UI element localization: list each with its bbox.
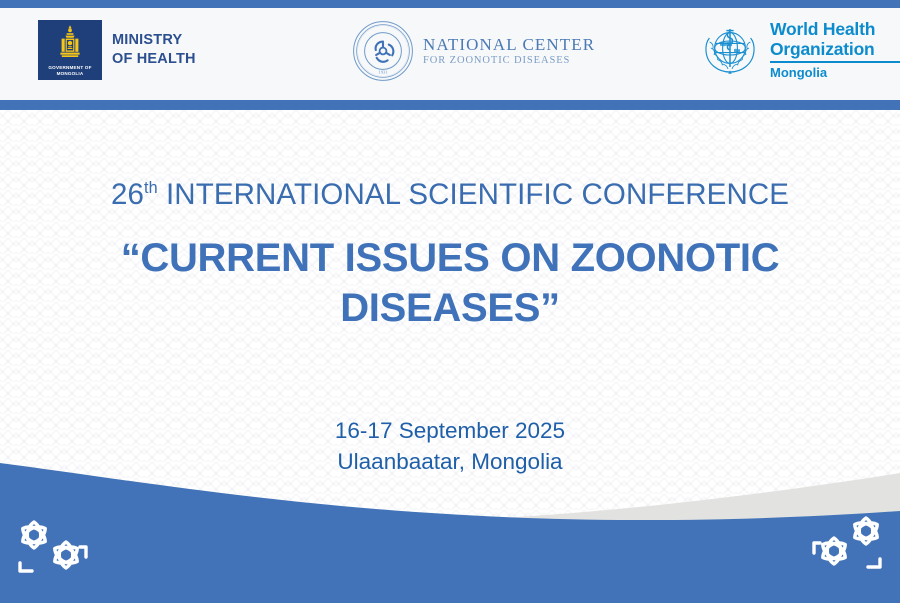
nczd-line-2: FOR ZOONOTIC DISEASES — [423, 54, 595, 68]
moh-line-2: OF HEALTH — [112, 50, 196, 69]
ministry-of-health-label: MINISTRY OF HEALTH — [112, 31, 196, 69]
nczd-line-1: NATIONAL CENTER — [423, 35, 595, 54]
nczd-label: NATIONAL CENTER FOR ZOONOTIC DISEASES — [423, 35, 595, 68]
who-emblem-icon — [700, 21, 760, 79]
zoonotic-seal-icon: 1931 — [352, 20, 414, 82]
soyombo-emblem: GOVERNMENT OF MONGOLIA — [38, 20, 102, 80]
title-line-1: “CURRENT ISSUES ON ZOONOTIC — [60, 233, 840, 283]
who-country-label: Mongolia — [770, 65, 900, 80]
logo-ministry-of-health: GOVERNMENT OF MONGOLIA MINISTRY OF HEALT… — [38, 20, 196, 80]
soyombo-icon — [55, 24, 85, 60]
seal-year: 1931 — [378, 70, 388, 75]
conference-number-line: 26th INTERNATIONAL SCIENTIFIC CONFERENCE — [0, 178, 900, 212]
footer-wave-decoration — [0, 453, 900, 603]
wave-blue-layer — [0, 463, 900, 603]
who-line-2: Organization — [770, 40, 900, 60]
who-line-1: World Health — [770, 20, 900, 40]
mongolian-knot-ornament-left — [14, 515, 98, 577]
event-dates: 16-17 September 2025 — [0, 415, 900, 446]
mongolian-knot-ornament-right — [802, 511, 886, 573]
conference-title-slide: GOVERNMENT OF MONGOLIA MINISTRY OF HEALT… — [0, 0, 900, 603]
conference-number: 26 — [111, 178, 144, 211]
header-accent-rule — [0, 100, 900, 110]
who-label: World Health Organization Mongolia — [770, 20, 900, 80]
slide-title: “CURRENT ISSUES ON ZOONOTIC DISEASES” — [60, 233, 840, 333]
who-underline-rule — [770, 61, 900, 63]
logo-world-health-organization: World Health Organization Mongolia — [700, 20, 900, 80]
logo-national-center-zoonotic-diseases: 1931 NATIONAL CENTER FOR ZOONOTIC DISEAS… — [352, 20, 595, 82]
conference-text: INTERNATIONAL SCIENTIFIC CONFERENCE — [158, 178, 789, 211]
title-line-2: DISEASES” — [60, 283, 840, 333]
top-accent-rule — [0, 0, 900, 8]
moh-line-1: MINISTRY — [112, 31, 196, 50]
emblem-caption-line2: MONGOLIA — [38, 71, 102, 77]
conference-ordinal: th — [144, 179, 158, 197]
